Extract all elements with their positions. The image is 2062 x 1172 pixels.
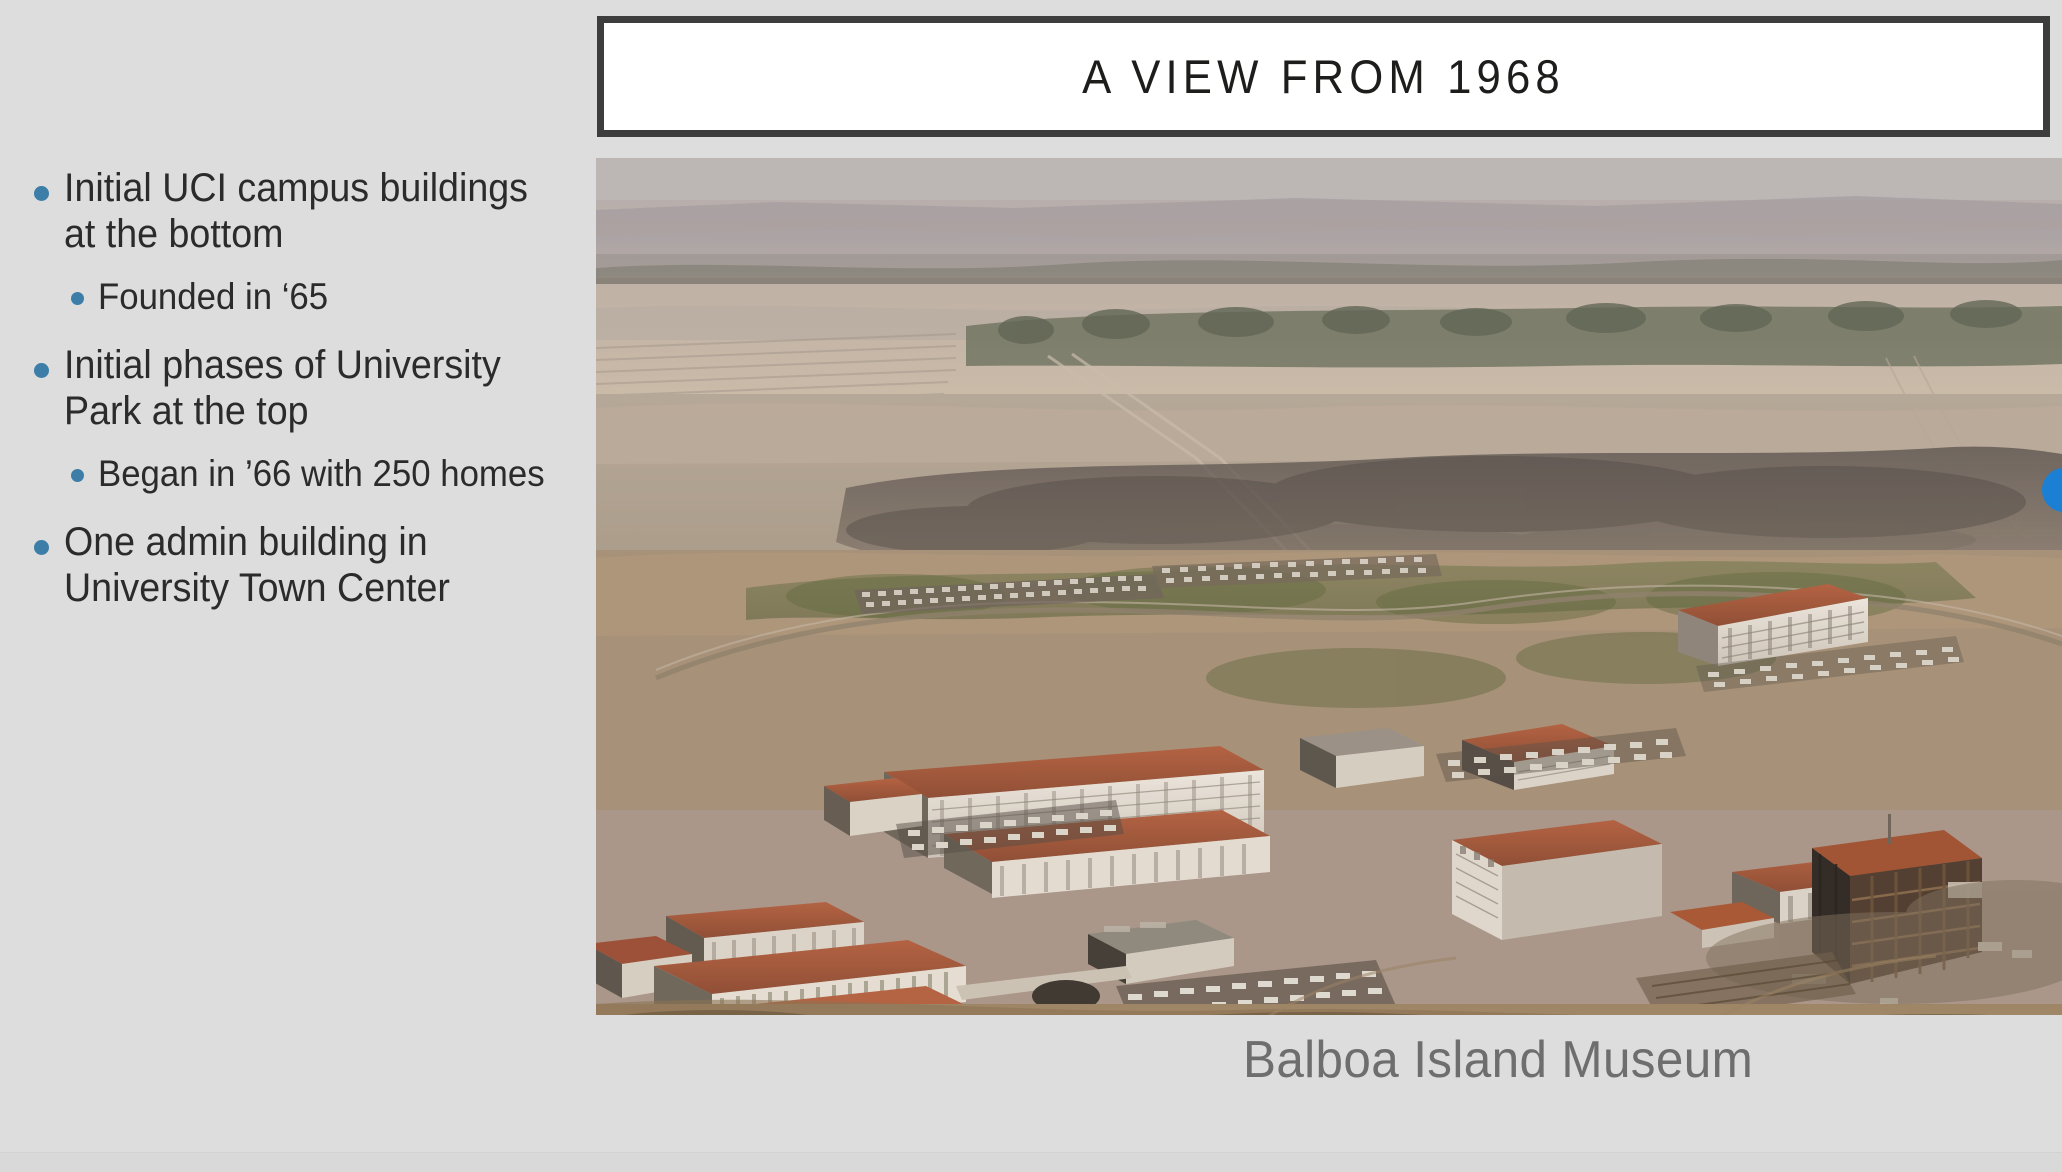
bullet-dot-icon <box>71 469 84 482</box>
list-item[interactable]: Initial UCI campus buildings at the bott… <box>34 165 579 257</box>
aerial-photo[interactable] <box>596 158 2062 1015</box>
slide-canvas: A VIEW FROM 1968 Initial UCI campus buil… <box>0 0 2062 1152</box>
bullet-dot-icon <box>34 540 49 555</box>
bullet-list: Initial UCI campus buildings at the bott… <box>34 165 579 627</box>
list-item-label: One admin building in University Town Ce… <box>64 519 548 611</box>
list-item[interactable]: Initial phases of University Park at the… <box>34 342 579 434</box>
list-item-label: Began in ’66 with 250 homes <box>98 450 550 497</box>
list-item[interactable]: One admin building in University Town Ce… <box>34 519 579 611</box>
list-item-label: Initial phases of University Park at the… <box>64 342 548 434</box>
bullet-dot-icon <box>71 292 84 305</box>
photo-credit-caption: Balboa Island Museum <box>1243 1030 1753 1090</box>
slide-root: A VIEW FROM 1968 Initial UCI campus buil… <box>0 0 2062 1172</box>
bullet-dot-icon <box>34 363 49 378</box>
bullet-dot-icon <box>34 186 49 201</box>
slide-bottom-strip <box>0 1152 2062 1172</box>
list-item[interactable]: Founded in ‘65 <box>34 273 579 320</box>
slide-title-box[interactable]: A VIEW FROM 1968 <box>597 16 2050 137</box>
aerial-photo-graphic <box>596 158 2062 1015</box>
list-item[interactable]: Began in ’66 with 250 homes <box>34 450 579 497</box>
list-item-label: Initial UCI campus buildings at the bott… <box>64 165 548 257</box>
list-item-label: Founded in ‘65 <box>98 273 550 320</box>
page-title: A VIEW FROM 1968 <box>1082 49 1565 104</box>
